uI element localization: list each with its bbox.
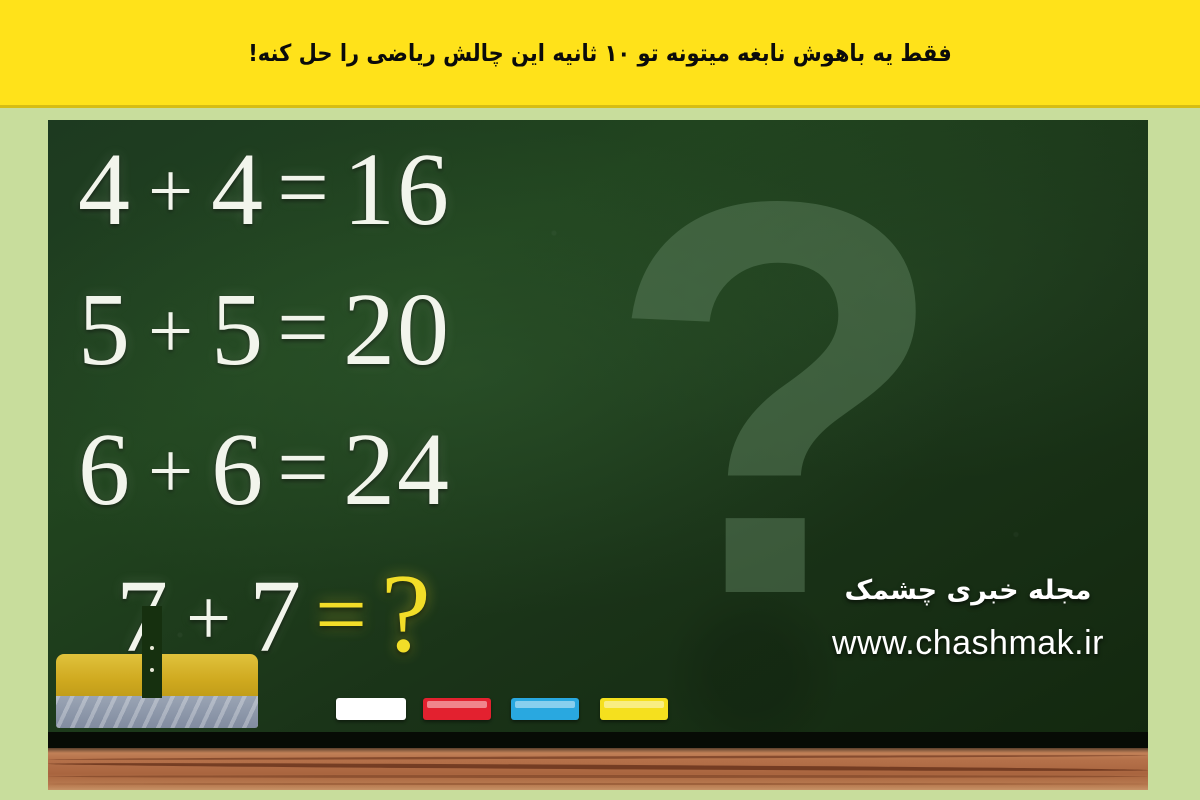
ledge-shadow xyxy=(48,748,1148,753)
equals-sign-highlighted: = xyxy=(303,561,381,667)
equals-sign: = xyxy=(265,274,343,380)
plus-sign: + xyxy=(170,574,249,665)
operand-left: 6 xyxy=(78,410,132,529)
wood-grain-line xyxy=(48,762,1148,773)
equation-result: 16 xyxy=(343,130,451,249)
blue-chalk-stick xyxy=(511,698,579,720)
headline-banner: فقط یه باهوش نابغه میتونه تو ۱۰ ثانیه ای… xyxy=(0,0,1200,108)
brand-website: www.chashmak.ir xyxy=(808,624,1128,663)
chalkboard-surface: ? 4 + 4 = 16 5 + 5 = 20 6 xyxy=(48,120,1148,748)
plus-sign: + xyxy=(132,427,211,518)
operand-left: 5 xyxy=(78,270,132,389)
unknown-answer-question-mark-icon: ? xyxy=(381,550,433,679)
equation-result: 20 xyxy=(343,270,451,389)
puzzle-image: فقط یه باهوش نابغه میتونه تو ۱۰ ثانیه ای… xyxy=(0,0,1200,800)
red-chalk-stick xyxy=(423,698,491,720)
wood-grain-line xyxy=(48,754,1148,760)
page-bottom-margin xyxy=(0,790,1200,800)
eraser-slot xyxy=(142,606,162,698)
brand-name: مجله خبری چشمک xyxy=(808,575,1128,606)
wooden-ledge xyxy=(48,748,1148,790)
equation-row: 5 + 5 = 20 xyxy=(78,270,598,410)
equation-row: 6 + 6 = 24 xyxy=(78,410,598,550)
headline-text: فقط یه باهوش نابغه میتونه تو ۱۰ ثانیه ای… xyxy=(248,39,952,66)
equals-sign: = xyxy=(265,134,343,240)
equation-row: 4 + 4 = 16 xyxy=(78,130,598,270)
operand-left: 4 xyxy=(78,130,132,249)
operand-right: 5 xyxy=(211,270,265,389)
equation-result: 24 xyxy=(343,410,451,529)
eraser-felt xyxy=(56,696,258,728)
board-bottom-rail xyxy=(48,732,1148,748)
operand-right: 4 xyxy=(211,130,265,249)
wood-grain-line xyxy=(48,775,1148,778)
chalkboard: ? 4 + 4 = 16 5 + 5 = 20 6 xyxy=(48,120,1148,750)
equals-sign: = xyxy=(265,414,343,520)
yellow-chalk-stick xyxy=(600,698,668,720)
plus-sign: + xyxy=(132,147,211,238)
white-chalk-stick xyxy=(336,698,406,720)
wood-grain-line xyxy=(48,783,1148,785)
chalkboard-eraser xyxy=(56,654,258,726)
operand-right: 6 xyxy=(211,410,265,529)
plus-sign: + xyxy=(132,287,211,378)
brand-watermark: مجله خبری چشمک www.chashmak.ir xyxy=(808,575,1128,663)
